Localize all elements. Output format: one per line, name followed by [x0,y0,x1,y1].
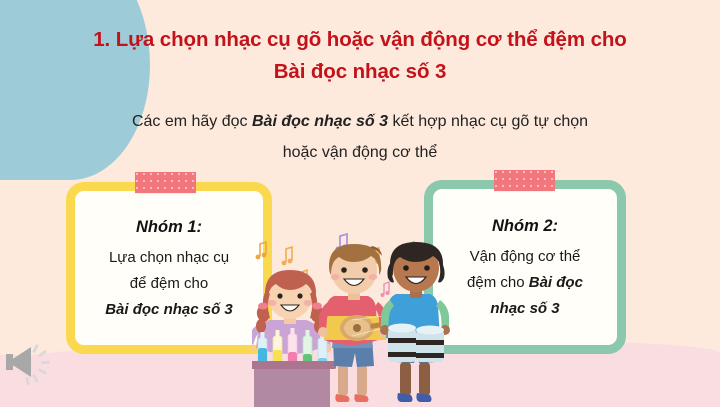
card-group-2-title: Nhóm 2: [492,215,558,237]
subtitle-emphasis: Bài đọc nhạc số 3 [252,113,388,130]
bongo-left [388,324,416,363]
speaker-icon[interactable] [6,336,60,388]
speaker-wave-3 [41,361,50,365]
card-group-1-line-2: để đệm cho [130,271,208,297]
card-group-1-content: Nhóm 1: Lựa chọn nhạc cụ để đệm cho Bài … [75,191,263,345]
card-group-1-line-3: Bài đọc nhạc số 3 [105,297,233,323]
card-group-1[interactable]: Nhóm 1: Lựa chọn nhạc cụ để đệm cho Bài … [66,182,272,354]
washi-tape-left [135,172,196,193]
heading-line-2: Bài đọc nhạc số 3 [0,56,720,88]
subtitle-line-1: Các em hãy đọc Bài đọc nhạc số 3 kết hợp… [0,106,720,137]
speaker-wave-1 [32,344,39,353]
speaker-wave-4 [38,368,47,375]
card-group-2-content: Nhóm 2: Vận động cơ thể đệm cho Bài đọc … [433,189,617,345]
card-group-1-title: Nhóm 1: [136,216,202,238]
washi-tape-right [494,170,555,191]
illustration-three-children [252,232,452,407]
subtitle-text-after: kết hợp nhạc cụ gõ tự chọn [388,113,588,130]
music-note-orange-1 [256,242,267,259]
table [252,361,336,407]
music-note-pink-1 [381,282,390,297]
speaker-wave-2 [38,350,47,358]
card-group-2-line-3: nhạc số 3 [490,296,559,322]
slide-subtitle: Các em hãy đọc Bài đọc nhạc số 3 kết hợp… [0,106,720,168]
card-group-1-line-1: Lựa chọn nhạc cụ [109,245,229,271]
card-group-2-line-2: đệm cho Bài đọc [467,270,583,296]
card-group-2-line-1: Vận động cơ thể [470,244,581,270]
speaker-wave-6 [25,377,29,385]
card-group-2-line-2-emphasis: Bài đọc [529,274,583,291]
subtitle-text-before: Các em hãy đọc [132,113,252,130]
music-note-orange-2 [282,247,293,265]
child-boy-bongo-drums [380,242,450,402]
card-group-2-line-2-text: đệm cho [467,274,529,291]
speaker-wave-5 [32,374,39,383]
slide-canvas: 1. Lựa chọn nhạc cụ gõ hoặc vận động cơ … [0,0,720,407]
slide-heading: 1. Lựa chọn nhạc cụ gõ hoặc vận động cơ … [0,24,720,88]
speaker-cone [8,347,31,377]
heading-line-1: 1. Lựa chọn nhạc cụ gõ hoặc vận động cơ … [0,24,720,56]
subtitle-line-2: hoặc vận động cơ thể [0,137,720,168]
card-group-2[interactable]: Nhóm 2: Vận động cơ thể đệm cho Bài đọc … [424,180,626,354]
bongo-right [416,326,444,363]
